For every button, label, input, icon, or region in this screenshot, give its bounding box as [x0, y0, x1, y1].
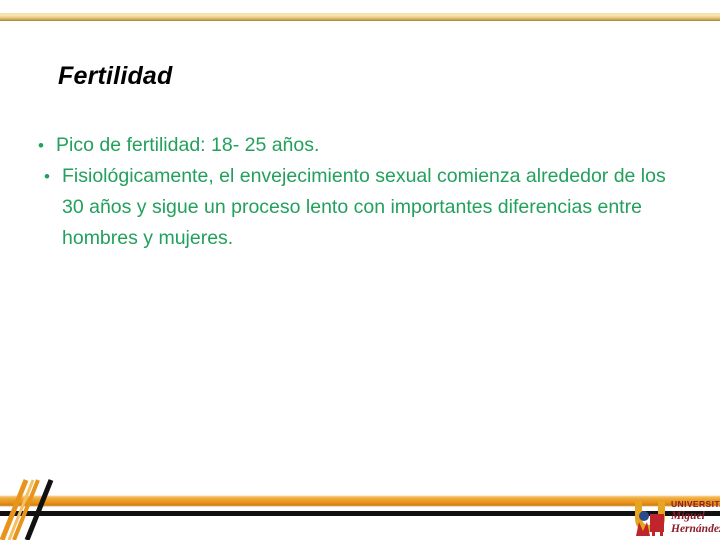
slide: Fertilidad • Pico de fertilidad: 18- 25 … — [0, 0, 720, 540]
bullet-marker-icon: • — [44, 161, 62, 192]
bullet-marker-icon: • — [38, 130, 56, 161]
page-title: Fertilidad — [58, 62, 173, 91]
list-item-text: Pico de fertilidad: 18- 25 años. — [56, 130, 670, 161]
diagonal-stripes-decoration — [0, 478, 110, 540]
top-gold-rule — [0, 13, 720, 21]
umh-logo-text: UNIVERSITAS Miguel Hernández — [671, 499, 720, 536]
list-item: • Fisiológicamente, el envejecimiento se… — [30, 161, 670, 254]
umh-monogram-icon — [630, 498, 670, 538]
list-item: • Pico de fertilidad: 18- 25 años. — [30, 130, 670, 161]
logo-line-miguel: Miguel — [671, 510, 720, 523]
logo-line-universitas: UNIVERSITAS — [671, 499, 720, 510]
list-item-text: Fisiológicamente, el envejecimiento sexu… — [62, 161, 670, 254]
bullet-list: • Pico de fertilidad: 18- 25 años. • Fis… — [30, 130, 670, 254]
umh-logo: UNIVERSITAS Miguel Hernández — [630, 496, 720, 540]
logo-line-hernandez: Hernández — [671, 523, 720, 536]
